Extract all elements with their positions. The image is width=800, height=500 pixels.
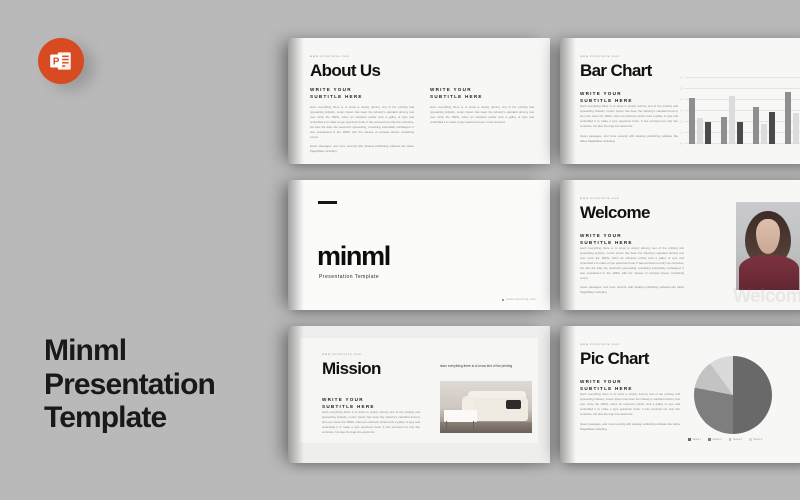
- column-subtitle: WRITE YOUR SUBTITLE HERE: [580, 378, 680, 392]
- page-title-line-2: Presentation: [44, 368, 280, 402]
- watermark-text: Welcome: [733, 286, 800, 308]
- subtitle-line-1: WRITE YOUR: [580, 91, 622, 96]
- svg-text:P: P: [53, 56, 60, 67]
- bar: [761, 124, 768, 144]
- column-subtitle: WRITE YOUR SUBTITLE HERE: [580, 90, 678, 104]
- bar-chart-text: WRITE YOUR SUBTITLE HERE learn everythin…: [580, 90, 678, 143]
- about-column-right: WRITE YOUR SUBTITLE HERE learn everythin…: [430, 86, 534, 154]
- legend-item: Series 3: [729, 438, 742, 441]
- bar-group: [721, 78, 744, 144]
- column-subtitle: WRITE YOUR SUBTITLE HERE: [580, 232, 684, 246]
- bar: [705, 122, 712, 144]
- column-subtitle: WRITE YOUR SUBTITLE HERE: [310, 86, 414, 100]
- bar-group: [785, 78, 800, 144]
- legend-swatch: [708, 438, 711, 441]
- column-body: learn everything there is to know is sim…: [580, 246, 684, 280]
- bar: [689, 98, 696, 144]
- y-axis-tick-label: 4: [668, 99, 682, 102]
- subtitle-line-2: SUBTITLE HERE: [322, 404, 375, 409]
- legend-item: Series 4: [749, 438, 762, 441]
- slide-url: www.minmlsite.com: [580, 196, 650, 200]
- about-columns: WRITE YOUR SUBTITLE HERE learn everythin…: [310, 86, 534, 154]
- coffee-table-legs: [446, 421, 474, 428]
- bar: [729, 96, 736, 144]
- mission-inner-panel: www.minmlsite.com Mission WRITE YOUR SUB…: [300, 338, 538, 443]
- slide-welcome[interactable]: www.minmlsite.com Welcome WRITE YOUR SUB…: [560, 180, 800, 310]
- y-axis-tick-label: 2: [668, 121, 682, 124]
- page-title-line-1: Minml: [44, 334, 280, 368]
- column-body-tail: Ipsum passages, and more recently with d…: [580, 285, 684, 295]
- footer-url: www.minmlsite.com: [506, 298, 536, 301]
- slide-url: www.minmlsite.com: [322, 352, 381, 356]
- mission-text: WRITE YOUR SUBTITLE HERE learn everythin…: [322, 396, 420, 435]
- column-body-tail: Ipsum passages, and more recently with d…: [580, 422, 680, 432]
- column-body: learn everything there is to know is sim…: [322, 410, 420, 434]
- slide-cover[interactable]: minml Presentation Template www.minmlsit…: [288, 180, 550, 310]
- legend-swatch: [688, 438, 691, 441]
- bullet-icon: [502, 299, 504, 301]
- column-body: learn everything there is to know is sim…: [580, 392, 680, 416]
- bar: [785, 92, 792, 144]
- subtitle-line-2: SUBTITLE HERE: [310, 94, 363, 99]
- about-column-left: WRITE YOUR SUBTITLE HERE learn everythin…: [310, 86, 414, 154]
- slide-bar-chart[interactable]: www.minmlsite.com Bar Chart WRITE YOUR S…: [560, 38, 800, 164]
- legend-swatch: [729, 438, 732, 441]
- slide-footer: www.minmlsite.com: [502, 298, 536, 301]
- column-body: learn everything there is to know is sim…: [310, 105, 414, 139]
- column-subtitle: WRITE YOUR SUBTITLE HERE: [322, 396, 420, 410]
- legend-swatch: [749, 438, 752, 441]
- slide-about-us[interactable]: www.minmlsite.com About Us WRITE YOUR SU…: [288, 38, 550, 164]
- dash-rule: [318, 201, 337, 204]
- y-axis-tick-label: 1: [668, 132, 682, 135]
- subtitle-line-1: WRITE YOUR: [580, 379, 622, 384]
- bar-group: [753, 78, 776, 144]
- pie-chart-legend: Series 1Series 2Series 3Series 4: [688, 438, 762, 441]
- bar-chart-bars: [684, 78, 800, 144]
- welcome-text: WRITE YOUR SUBTITLE HERE learn everythin…: [580, 232, 684, 295]
- bar: [769, 112, 776, 144]
- bar: [793, 113, 800, 144]
- portrait-photo: [736, 202, 800, 290]
- subtitle-line-1: WRITE YOUR: [322, 397, 364, 402]
- column-body-tail: Ipsum passages, and more recently with d…: [580, 134, 678, 144]
- subtitle-line-2: SUBTITLE HERE: [580, 98, 633, 103]
- bar: [697, 118, 704, 144]
- pie-chart-text: WRITE YOUR SUBTITLE HERE learn everythin…: [580, 378, 680, 431]
- column-body: learn everything there is to know is sim…: [430, 105, 534, 125]
- legend-label: Series 2: [713, 438, 722, 441]
- legend-item: Series 2: [708, 438, 721, 441]
- subtitle-line-1: WRITE YOUR: [580, 233, 622, 238]
- y-axis-tick-label: 5: [668, 88, 682, 91]
- living-room-photo: [440, 381, 532, 433]
- bar: [721, 117, 728, 145]
- slide-url: www.minmlsite.com: [580, 54, 652, 58]
- bar: [737, 122, 744, 144]
- powerpoint-icon: P: [38, 38, 84, 84]
- slide-title: Mission: [322, 360, 381, 377]
- legend-label: Series 1: [692, 438, 701, 441]
- logo-text: minml: [317, 243, 390, 270]
- subtitle-line-2: SUBTITLE HERE: [580, 240, 633, 245]
- slide-pic-chart[interactable]: www.minmlsite.com Pic Chart WRITE YOUR S…: [560, 326, 800, 463]
- subtitle-line-1: WRITE YOUR: [310, 87, 352, 92]
- page-title-line-3: Template: [44, 401, 280, 435]
- slide-title: Bar Chart: [580, 62, 652, 79]
- slide-url: www.minmlsite.com: [580, 342, 649, 346]
- y-axis-tick-label: 0: [668, 143, 682, 146]
- subtitle-line-1: WRITE YOUR: [430, 87, 472, 92]
- page-title: Minml Presentation Template: [44, 334, 280, 435]
- slide-mission[interactable]: www.minmlsite.com Mission WRITE YOUR SUB…: [288, 326, 550, 463]
- pie-chart: [694, 356, 772, 434]
- poster-canvas: P Minml Presentation Template www.minmls…: [0, 0, 800, 500]
- bar: [753, 107, 760, 144]
- slide-title: About Us: [310, 62, 380, 79]
- subtitle-line-2: SUBTITLE HERE: [580, 386, 633, 391]
- column-body: learn everything there is to know is sim…: [580, 104, 678, 128]
- slide-url: www.minmlsite.com: [310, 54, 380, 58]
- bar-group: [689, 78, 712, 144]
- slide-title: Welcome: [580, 204, 650, 221]
- y-axis-tick-label: 6: [668, 77, 682, 80]
- legend-item: Series 1: [688, 438, 701, 441]
- bar-chart: 0123456: [668, 78, 800, 154]
- portrait-face: [756, 219, 780, 254]
- sofa-pillow: [506, 400, 521, 409]
- portrait-shoulder: [739, 255, 800, 290]
- subtitle-line-2: SUBTITLE HERE: [430, 94, 483, 99]
- legend-label: Series 3: [733, 438, 742, 441]
- slide-title: Pic Chart: [580, 350, 649, 367]
- column-body-tail: Ipsum passages, and more recently with d…: [310, 144, 414, 154]
- legend-label: Series 4: [753, 438, 762, 441]
- mission-caption: learn everything there is to know text o…: [440, 364, 526, 369]
- logo-subtitle: Presentation Template: [319, 274, 379, 280]
- column-subtitle: WRITE YOUR SUBTITLE HERE: [430, 86, 534, 100]
- y-axis-tick-label: 3: [668, 110, 682, 113]
